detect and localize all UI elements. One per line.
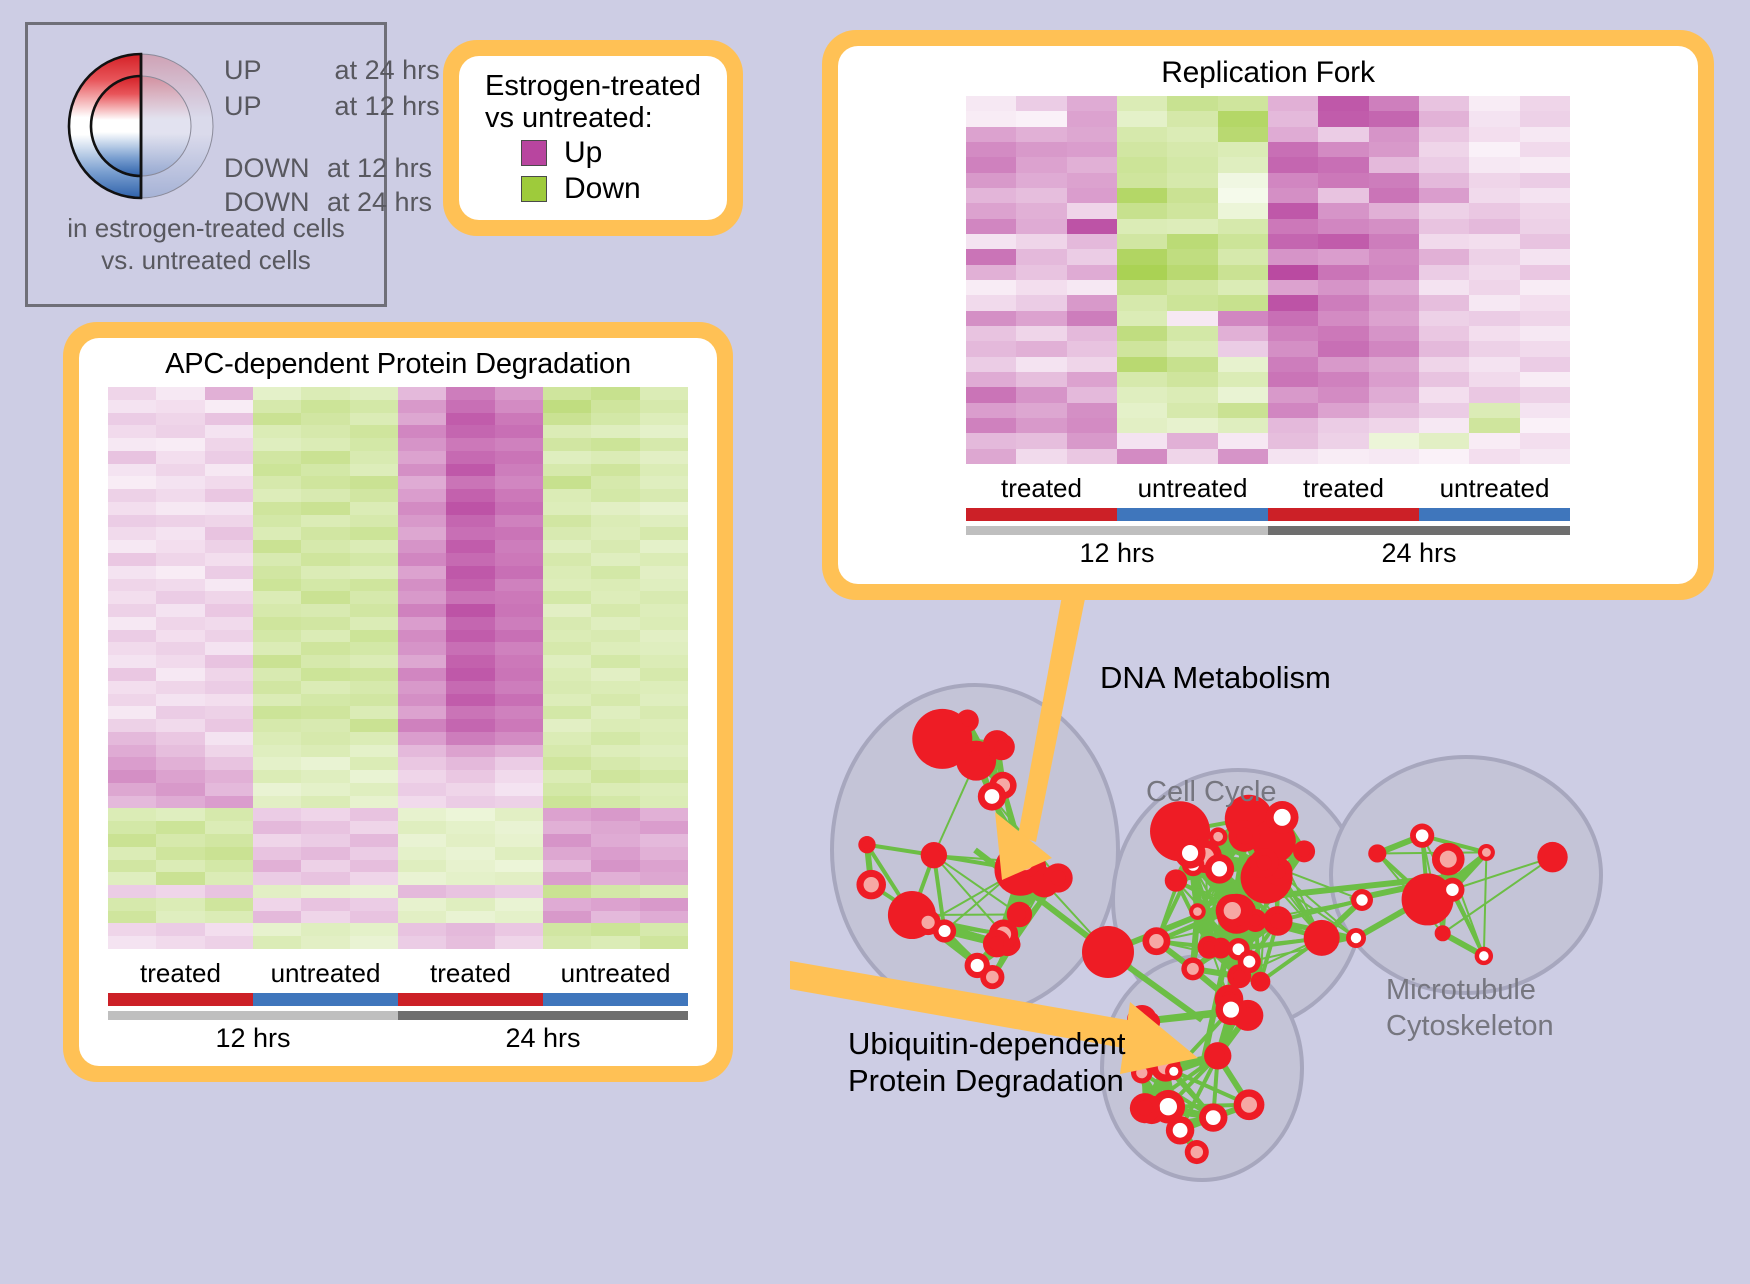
heatmap-cell — [350, 476, 398, 489]
network-node[interactable] — [1198, 936, 1221, 959]
heatmap-cell — [350, 566, 398, 579]
heatmap-cell — [543, 745, 591, 758]
network-node[interactable] — [1043, 863, 1072, 892]
heatmap-cell — [301, 579, 349, 592]
apc-time-bars — [108, 1011, 688, 1020]
heatmap-cell — [1117, 173, 1167, 188]
heatmap-cell — [446, 770, 494, 783]
heatmap-cell — [591, 464, 639, 477]
heatmap-cell — [398, 579, 446, 592]
heatmap-cell — [1318, 188, 1368, 203]
network-node[interactable] — [1185, 1140, 1209, 1164]
heatmap-cell — [591, 668, 639, 681]
heatmap-cell — [966, 357, 1016, 372]
heatmap-cell — [205, 885, 253, 898]
heatmap-cell — [253, 502, 301, 515]
heatmap-cell — [1117, 127, 1167, 142]
heatmap-cell — [1067, 127, 1117, 142]
heatmap-cell — [543, 527, 591, 540]
heatmap-cell — [1167, 203, 1217, 218]
heatmap-cell — [1369, 449, 1419, 464]
network-node[interactable] — [1368, 844, 1386, 862]
heatmap-cell — [156, 540, 204, 553]
heatmap-cell — [495, 808, 543, 821]
heatmap-cell — [108, 464, 156, 477]
network-node[interactable] — [978, 782, 1006, 810]
heatmap-cell — [108, 425, 156, 438]
heatmap-cell — [543, 847, 591, 860]
heatmap-cell — [1016, 387, 1066, 402]
heatmap-cell — [398, 413, 446, 426]
heatmap-cell — [205, 630, 253, 643]
network-node[interactable] — [1475, 947, 1493, 965]
heatmap-cell — [1419, 387, 1469, 402]
apc-bar-treated-12 — [108, 993, 253, 1006]
up-label: Up — [564, 136, 602, 170]
heatmap-cell — [966, 311, 1016, 326]
heatmap-cell — [495, 681, 543, 694]
network-node[interactable] — [1209, 827, 1228, 846]
heatmap-cell — [1369, 357, 1419, 372]
heatmap-cell — [1067, 157, 1117, 172]
heatmap-cell — [253, 604, 301, 617]
heatmap-cell — [1218, 341, 1268, 356]
heatmap-cell — [108, 936, 156, 949]
heatmap-cell — [156, 911, 204, 924]
heatmap-cell — [543, 425, 591, 438]
heatmap-cell — [1016, 295, 1066, 310]
heatmap-cell — [1369, 127, 1419, 142]
network-node[interactable] — [1251, 972, 1271, 992]
heatmap-cell — [966, 449, 1016, 464]
heatmap-cell — [205, 719, 253, 732]
heatmap-cell — [1419, 111, 1469, 126]
heatmap-cell — [156, 923, 204, 936]
heatmap-cell — [253, 732, 301, 745]
heatmap-cell — [350, 642, 398, 655]
node-inner-fill — [1479, 951, 1489, 961]
heatmap-cell — [156, 566, 204, 579]
heatmap-cell — [966, 234, 1016, 249]
network-node[interactable] — [1199, 1103, 1227, 1131]
heatmap-cell — [495, 923, 543, 936]
network-node[interactable] — [1175, 838, 1206, 869]
heatmap-cell — [543, 808, 591, 821]
heatmap-cell — [495, 630, 543, 643]
heatmap-cell — [1067, 249, 1117, 264]
label-ubiquitin-protein-degradation: Ubiquitin-dependentProtein Degradation — [848, 1025, 1126, 1099]
heatmap-cell — [350, 796, 398, 809]
heatmap-cell — [1520, 111, 1570, 126]
heatmap-cell — [640, 681, 688, 694]
heatmap-cell — [1117, 203, 1167, 218]
node-inner-fill — [1351, 933, 1361, 943]
heatmap-cell — [205, 617, 253, 630]
heatmap-cell — [205, 413, 253, 426]
heatmap-cell — [543, 540, 591, 553]
heatmap-cell — [1016, 188, 1066, 203]
heatmap-cell — [301, 847, 349, 860]
heatmap-cell — [156, 668, 204, 681]
heatmap-cell — [1419, 234, 1469, 249]
heatmap-cell — [301, 745, 349, 758]
heatmap-cell — [446, 834, 494, 847]
heatmap-cell — [350, 719, 398, 732]
network-node[interactable] — [1440, 878, 1464, 902]
heatmap-cell — [1469, 173, 1519, 188]
heatmap-cell — [156, 872, 204, 885]
network-node[interactable] — [1227, 964, 1251, 988]
rf-treatment-bars — [966, 508, 1570, 521]
network-node[interactable] — [1351, 889, 1373, 911]
node-inner-fill — [862, 840, 871, 849]
heatmap-cell — [1268, 265, 1318, 280]
node-inner-fill — [995, 740, 1009, 754]
network-node[interactable] — [1537, 842, 1567, 872]
network-node[interactable] — [1304, 920, 1340, 956]
node-inner-fill — [1187, 963, 1199, 975]
heatmap-cell — [495, 617, 543, 630]
network-node[interactable] — [980, 965, 1004, 989]
heatmap-cell — [1520, 127, 1570, 142]
heatmap-cell — [1469, 387, 1519, 402]
heatmap-cell — [591, 476, 639, 489]
heatmap-cell — [205, 553, 253, 566]
heatmap-cell — [640, 745, 688, 758]
heatmap-cell — [1067, 387, 1117, 402]
heatmap-cell — [350, 400, 398, 413]
heatmap-cell — [446, 540, 494, 553]
heatmap-cell — [495, 694, 543, 707]
heatmap-cell — [398, 757, 446, 770]
heatmap-cell — [253, 796, 301, 809]
heatmap-cell — [1520, 173, 1570, 188]
heatmap-cell — [108, 732, 156, 745]
apc-bar-untreated-24 — [543, 993, 688, 1006]
heatmap-cell — [966, 295, 1016, 310]
heatmap-cell — [543, 655, 591, 668]
heatmap-cell — [205, 566, 253, 579]
network-node[interactable] — [1435, 925, 1451, 941]
heatmap-cell — [543, 911, 591, 924]
heatmap-cell — [1117, 188, 1167, 203]
heatmap-cell — [591, 642, 639, 655]
heatmap-cell — [640, 911, 688, 924]
heatmap-cell — [1318, 311, 1368, 326]
heatmap-cell — [1067, 96, 1117, 111]
heatmap-cell — [591, 553, 639, 566]
heatmap-cell — [156, 732, 204, 745]
network-node[interactable] — [1082, 926, 1134, 978]
network-node[interactable] — [856, 870, 886, 900]
heatmap-cell — [543, 451, 591, 464]
heatmap-cell — [108, 476, 156, 489]
node-inner-fill — [962, 715, 974, 727]
heatmap-cell — [301, 936, 349, 949]
heatmap-cell — [1016, 127, 1066, 142]
heatmap-cell — [350, 694, 398, 707]
heatmap-cell — [1520, 387, 1570, 402]
heatmap-cell — [446, 872, 494, 885]
heatmap-cell — [966, 127, 1016, 142]
network-node[interactable] — [1165, 1063, 1183, 1081]
heatmap-cell — [640, 694, 688, 707]
heatmap-cell — [543, 898, 591, 911]
node-inner-fill — [966, 750, 987, 771]
network-node[interactable] — [1204, 1042, 1231, 1069]
heatmap-cell — [495, 540, 543, 553]
rf-bar-24hrs — [1268, 526, 1570, 535]
network-node[interactable] — [1205, 854, 1235, 884]
heatmap-cell — [543, 502, 591, 515]
heatmap-cell — [350, 655, 398, 668]
heatmap-cell — [108, 808, 156, 821]
node-inner-fill — [1149, 934, 1164, 949]
rf-time-labels: 12 hrs 24 hrs — [966, 538, 1570, 569]
heatmap-cell — [495, 706, 543, 719]
heatmap-cell — [495, 566, 543, 579]
heatmap-cell — [205, 579, 253, 592]
heatmap-cell — [591, 681, 639, 694]
heatmap-cell — [156, 783, 204, 796]
heatmap-cell — [1167, 219, 1217, 234]
heatmap-cell — [1167, 127, 1217, 142]
heatmap-cell — [398, 527, 446, 540]
network-node[interactable] — [956, 710, 979, 733]
heatmap-cell — [495, 783, 543, 796]
node-inner-fill — [971, 959, 984, 972]
heatmap-cell — [108, 527, 156, 540]
heatmap-cell — [446, 489, 494, 502]
network-node[interactable] — [1263, 906, 1293, 936]
rf-group-label-2: treated — [1268, 473, 1419, 504]
heatmap-cell — [495, 579, 543, 592]
heatmap-cell — [640, 579, 688, 592]
heatmap-cell — [543, 783, 591, 796]
heatmap-cell — [350, 936, 398, 949]
network-node[interactable] — [1228, 820, 1260, 852]
heatmap-cell — [156, 579, 204, 592]
heatmap-cell — [591, 527, 639, 540]
network-node[interactable] — [1215, 994, 1246, 1025]
heatmap-cell — [1218, 173, 1268, 188]
heatmap-cell — [640, 808, 688, 821]
heatmap-cell — [108, 694, 156, 707]
heatmap-cell — [350, 732, 398, 745]
heatmap-cell — [253, 885, 301, 898]
heatmap-cell — [1167, 449, 1217, 464]
apc-group-labels: treated untreated treated untreated — [108, 958, 688, 989]
heatmap-cell — [591, 655, 639, 668]
heatmap-cell — [350, 821, 398, 834]
network-node[interactable] — [915, 910, 940, 935]
heatmap-cell — [350, 425, 398, 438]
network-node[interactable] — [1432, 843, 1465, 876]
heatmap-cell — [1268, 403, 1318, 418]
heatmap-cell — [640, 655, 688, 668]
apc-bar-12hrs — [108, 1011, 398, 1020]
network-node[interactable] — [1181, 957, 1204, 980]
heatmap-cell — [398, 796, 446, 809]
heatmap-cell — [398, 668, 446, 681]
heatmap-cell — [253, 655, 301, 668]
heatmap-cell — [108, 719, 156, 732]
heatmap-cell — [591, 566, 639, 579]
key-row-down: Down — [521, 172, 641, 206]
legend-caption-line2: vs. untreated cells — [28, 245, 384, 277]
heatmap-cell — [1469, 265, 1519, 280]
network-node[interactable] — [1234, 1089, 1265, 1120]
heatmap-cell — [350, 451, 398, 464]
heatmap-cell — [543, 413, 591, 426]
network-node[interactable] — [1130, 1093, 1160, 1123]
apc-panel-title: APC-dependent Protein Degradation — [165, 348, 631, 381]
heatmap-cell — [301, 898, 349, 911]
heatmap-cell — [301, 438, 349, 451]
heatmap-cell — [495, 885, 543, 898]
node-outer-ring — [1082, 926, 1134, 978]
legend-time-down-12: at 12 hrs — [327, 153, 432, 183]
network-node[interactable] — [1250, 848, 1279, 877]
heatmap-cell — [108, 911, 156, 924]
heatmap-cell — [446, 476, 494, 489]
heatmap-cell — [1469, 96, 1519, 111]
network-node[interactable] — [988, 734, 1015, 761]
heatmap-cell — [253, 425, 301, 438]
network-node[interactable] — [1189, 903, 1206, 920]
apc-group-label-2: treated — [398, 958, 543, 989]
heatmap-cell — [495, 821, 543, 834]
heatmap-cell — [446, 821, 494, 834]
heatmap-cell — [301, 783, 349, 796]
heatmap-cell — [640, 451, 688, 464]
network-node[interactable] — [1293, 840, 1315, 862]
network-node[interactable] — [921, 842, 947, 868]
heatmap-cell — [543, 617, 591, 630]
node-inner-fill — [985, 789, 1000, 804]
heatmap-cell — [543, 591, 591, 604]
heatmap-cell — [966, 341, 1016, 356]
heatmap-cell — [495, 387, 543, 400]
heatmap-cell — [156, 413, 204, 426]
heatmap-cell — [253, 668, 301, 681]
node-inner-fill — [1482, 848, 1491, 857]
heatmap-cell — [205, 502, 253, 515]
heatmap-cell — [1268, 311, 1318, 326]
heatmap-cell — [253, 694, 301, 707]
heatmap-cell — [446, 617, 494, 630]
heatmap-cell — [1520, 295, 1570, 310]
heatmap-cell — [350, 413, 398, 426]
heatmap-cell — [398, 630, 446, 643]
network-node[interactable] — [1165, 869, 1187, 891]
heatmap-cell — [1268, 173, 1318, 188]
heatmap-cell — [966, 96, 1016, 111]
apc-degradation-panel: APC-dependent Protein Degradation treate… — [63, 322, 733, 1082]
apc-bar-treated-24 — [398, 993, 543, 1006]
apc-time-labels: 12 hrs 24 hrs — [108, 1023, 688, 1054]
heatmap-cell — [1520, 219, 1570, 234]
network-node[interactable] — [1166, 1116, 1194, 1144]
heatmap-cell — [301, 451, 349, 464]
heatmap-cell — [301, 694, 349, 707]
network-node[interactable] — [1007, 902, 1032, 927]
heatmap-cell — [1520, 449, 1570, 464]
heatmap-cell — [1469, 142, 1519, 157]
heatmap-cell — [350, 706, 398, 719]
heatmap-cell — [640, 413, 688, 426]
heatmap-cell — [350, 502, 398, 515]
heatmap-cell — [350, 745, 398, 758]
heatmap-cell — [301, 515, 349, 528]
network-node[interactable] — [983, 930, 1011, 958]
down-label: Down — [564, 172, 641, 206]
heatmap-cell — [1369, 188, 1419, 203]
heatmap-cell — [591, 885, 639, 898]
heatmap-cell — [495, 796, 543, 809]
heatmap-cell — [205, 923, 253, 936]
heatmap-cell — [640, 604, 688, 617]
heatmap-cell — [1469, 311, 1519, 326]
node-inner-fill — [864, 877, 879, 892]
heatmap-cell — [640, 438, 688, 451]
heatmap-cell — [1419, 173, 1469, 188]
network-node[interactable] — [1346, 928, 1366, 948]
heatmap-cell — [1369, 418, 1419, 433]
heatmap-cell — [591, 387, 639, 400]
heatmap-cell — [1117, 142, 1167, 157]
heatmap-cell — [253, 451, 301, 464]
heatmap-cell — [301, 604, 349, 617]
heatmap-cell — [205, 936, 253, 949]
heatmap-cell — [1520, 249, 1570, 264]
heatmap-cell — [156, 502, 204, 515]
heatmap-cell — [1067, 449, 1117, 464]
network-node[interactable] — [858, 836, 875, 853]
heatmap-cell — [1369, 111, 1419, 126]
heatmap-cell — [156, 821, 204, 834]
heatmap-cell — [1218, 188, 1268, 203]
heatmap-cell — [205, 745, 253, 758]
heatmap-cell — [156, 400, 204, 413]
heatmap-cell — [1520, 280, 1570, 295]
network-node[interactable] — [1478, 844, 1495, 861]
heatmap-cell — [1167, 234, 1217, 249]
heatmap-cell — [108, 413, 156, 426]
heatmap-cell — [1369, 249, 1419, 264]
heatmap-cell — [966, 157, 1016, 172]
heatmap-cell — [253, 438, 301, 451]
heatmap-cell — [640, 630, 688, 643]
heatmap-cell — [1369, 219, 1419, 234]
heatmap-cell — [1419, 311, 1469, 326]
network-node[interactable] — [1410, 824, 1434, 848]
apc-time-label-24: 24 hrs — [398, 1023, 688, 1054]
heatmap-cell — [446, 885, 494, 898]
heatmap-cell — [1117, 96, 1167, 111]
heatmap-cell — [156, 425, 204, 438]
node-inner-fill — [1257, 855, 1272, 870]
heatmap-cell — [398, 719, 446, 732]
heatmap-cell — [1016, 341, 1066, 356]
heatmap-cell — [591, 630, 639, 643]
half-ring-gradient-icon — [66, 47, 216, 205]
heatmap-cell — [1117, 372, 1167, 387]
network-node[interactable] — [1216, 894, 1249, 927]
node-inner-fill — [1013, 908, 1026, 921]
network-node[interactable] — [1142, 927, 1170, 955]
key-heading: Estrogen-treated vs untreated: — [485, 70, 701, 135]
